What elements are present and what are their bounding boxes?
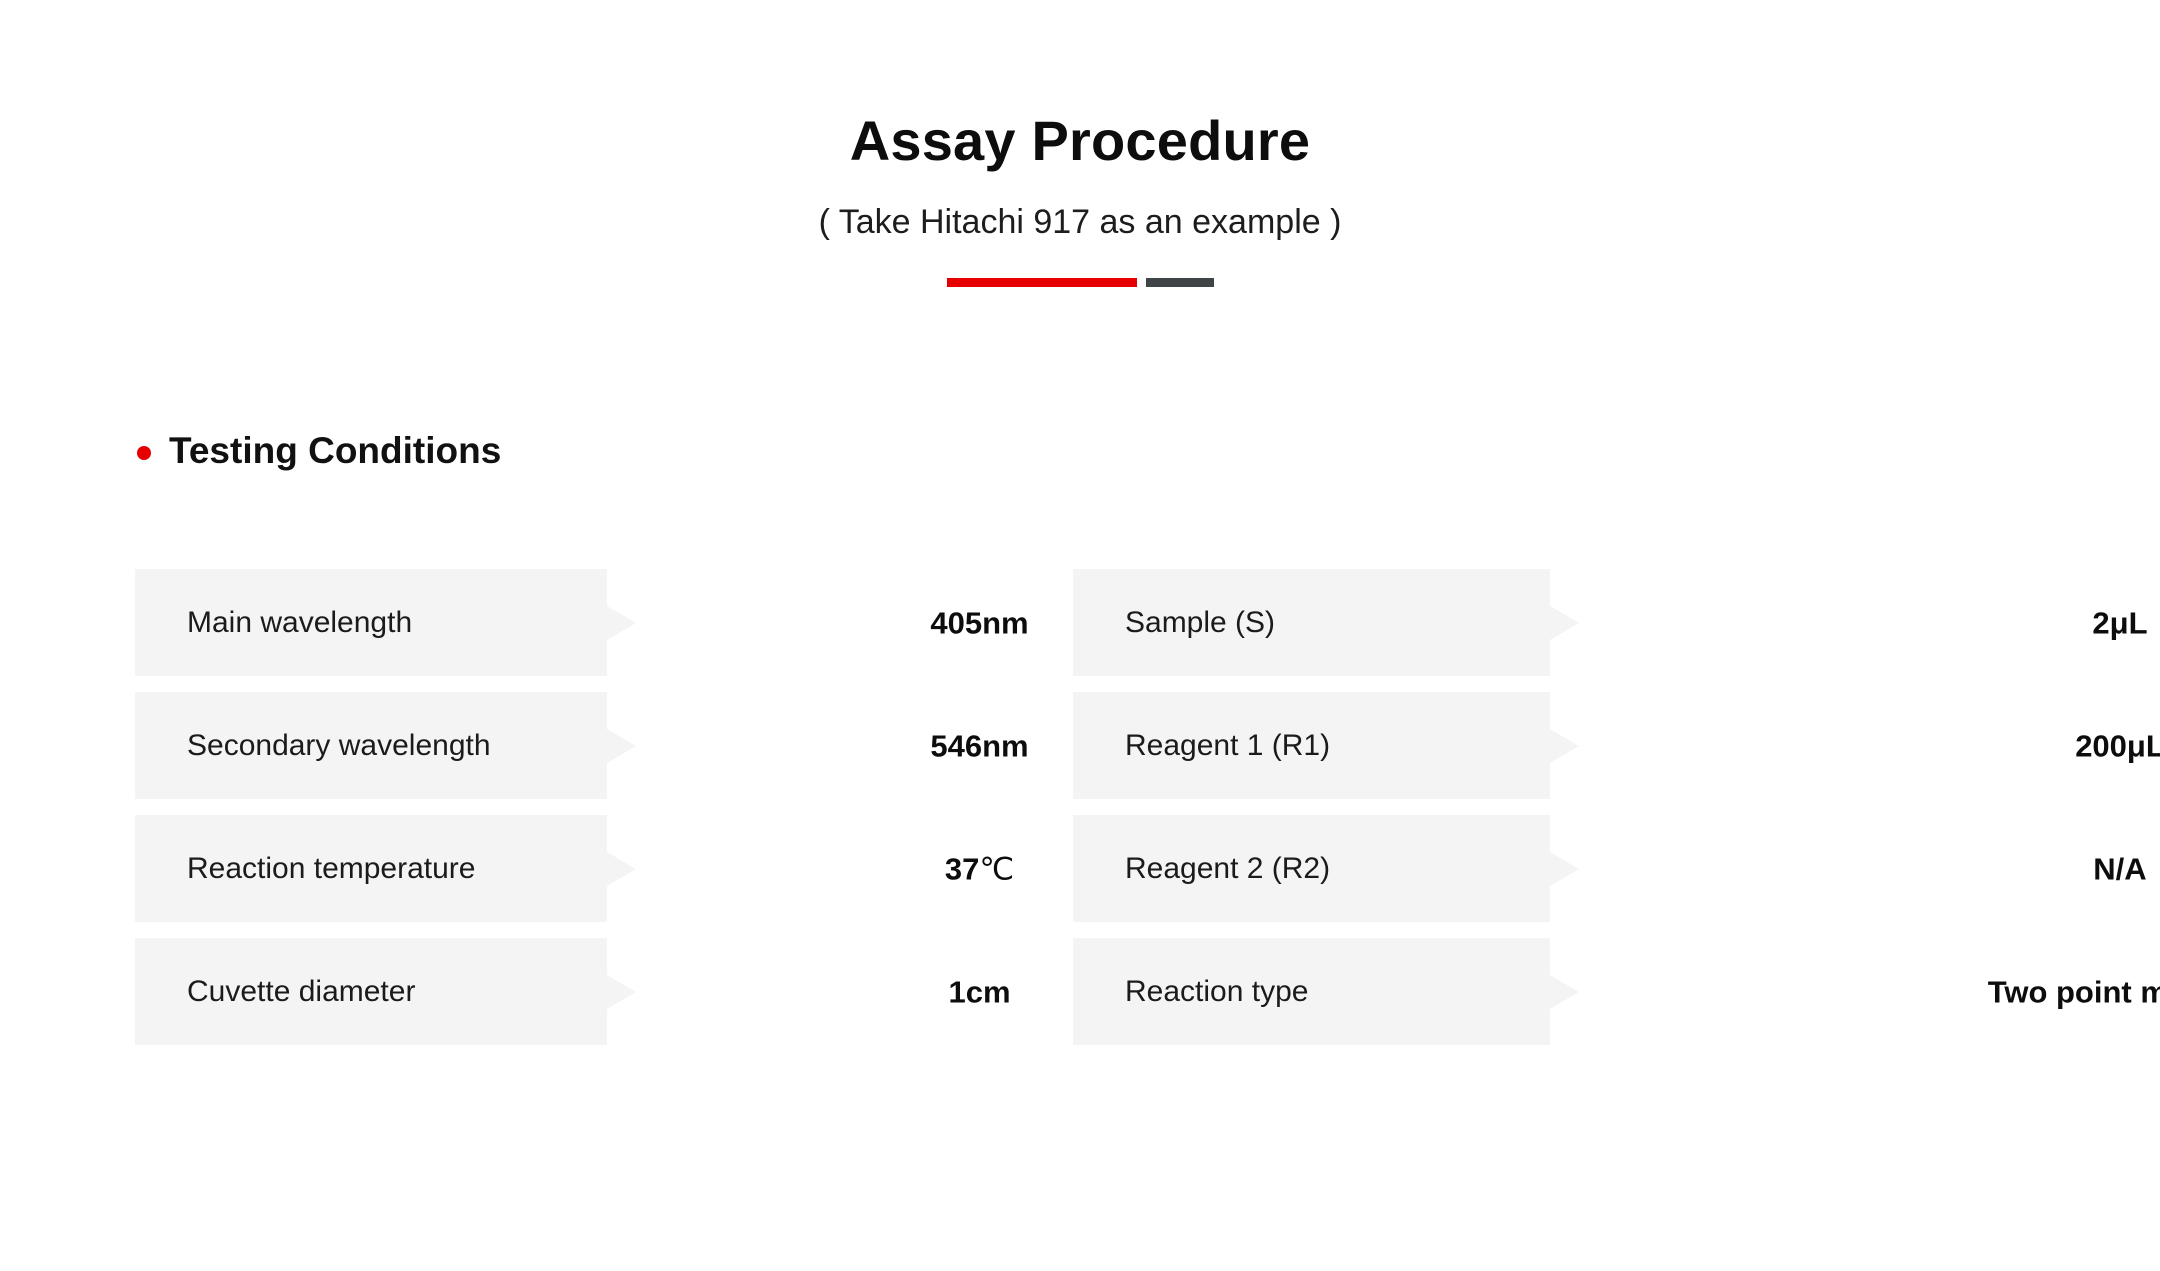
spec-value: 2μL [1550,604,2160,641]
spec-label: Sample (S) [1073,605,1275,641]
divider-bar-secondary [1146,278,1214,287]
spec-label: Reagent 1 (R1) [1073,728,1330,764]
spec-label-chip: Reagent 1 (R1) [1073,692,1550,799]
spec-value: Two point method [1550,973,2160,1010]
section-heading-label: Testing Conditions [169,432,501,469]
spec-label-chip: Reaction type [1073,938,1550,1045]
spec-label: Main wavelength [135,605,412,641]
bullet-dot-icon [137,446,151,460]
spec-value: N/A [1550,850,2160,887]
spec-value-number: 37 [945,851,979,886]
divider-bar-accent [947,278,1137,287]
title-divider [0,242,2160,287]
spec-label-chip: Secondary wavelength [135,692,607,799]
spec-label-chip: Reagent 2 (R2) [1073,815,1550,922]
page-title: Assay Procedure [0,110,2160,172]
spec-value: 200μL [1550,727,2160,764]
page-subtitle: ( Take Hitachi 917 as an example ) [0,172,2160,243]
spec-label: Cuvette diameter [135,974,415,1010]
page-header: Assay Procedure ( Take Hitachi 917 as an… [0,110,2160,287]
section-heading-testing-conditions: Testing Conditions [137,432,501,469]
spec-label-chip: Sample (S) [1073,569,1550,676]
spec-label: Reagent 2 (R2) [1073,851,1330,887]
spec-label: Reaction temperature [135,851,476,887]
spec-label: Secondary wavelength [135,728,491,764]
spec-label-chip: Main wavelength [135,569,607,676]
testing-conditions-grid: Main wavelength 405nm Secondary waveleng… [0,569,2160,1209]
spec-value-unit: ℃ [979,851,1014,886]
spec-label-chip: Reaction temperature [135,815,607,922]
spec-label: Reaction type [1073,974,1308,1010]
spec-label-chip: Cuvette diameter [135,938,607,1045]
